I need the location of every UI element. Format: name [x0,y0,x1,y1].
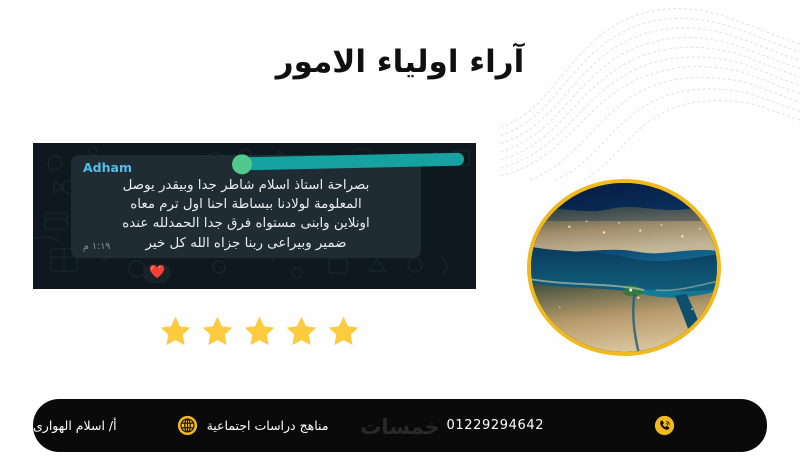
phone-number-label: 01229294642 [447,418,545,433]
heart-reaction-icon: ❤️ [143,264,171,283]
star-icon [242,314,277,349]
footer-phone-icon-wrap [654,415,675,436]
footer-bar: أ/ اسلام الهوارى مناهج دراسات اجتماعية 0… [33,399,767,452]
message-line: اونلاين وابنى مستواه فرق جدا الحمدلله عن… [81,214,411,233]
star-icon [284,314,319,349]
star-rating [158,314,361,349]
page-title: آراء اولياء الامور [0,44,800,80]
footer-teacher-name: أ/ اسلام الهوارى [33,418,117,433]
globe-icon [177,415,198,436]
footer-phone[interactable]: 01229294642 [447,418,545,433]
star-icon [158,314,193,349]
star-icon [326,314,361,349]
subject-label: مناهج دراسات اجتماعية [207,418,329,433]
footer-watermark: خمسات [360,415,440,439]
phone-call-icon [654,415,675,436]
teacher-name-label: أ/ اسلام الهوارى [33,418,117,433]
earth-night-image [527,179,721,356]
message-line: المعلومة لولادنا ببساطة احنا اول ترم معا… [81,195,411,214]
topographic-lines-decoration [500,0,800,180]
footer-subject: مناهج دراسات اجتماعية [177,415,329,436]
star-icon [200,314,235,349]
message-line: بصراحة استاذ اسلام شاطر جدا وبيقدر يوصل [81,176,411,195]
testimonial-screenshot: Adham بصراحة استاذ اسلام شاطر جدا وبيقدر… [33,143,476,289]
slide-canvas: آراء اولياء الامور [0,0,800,460]
